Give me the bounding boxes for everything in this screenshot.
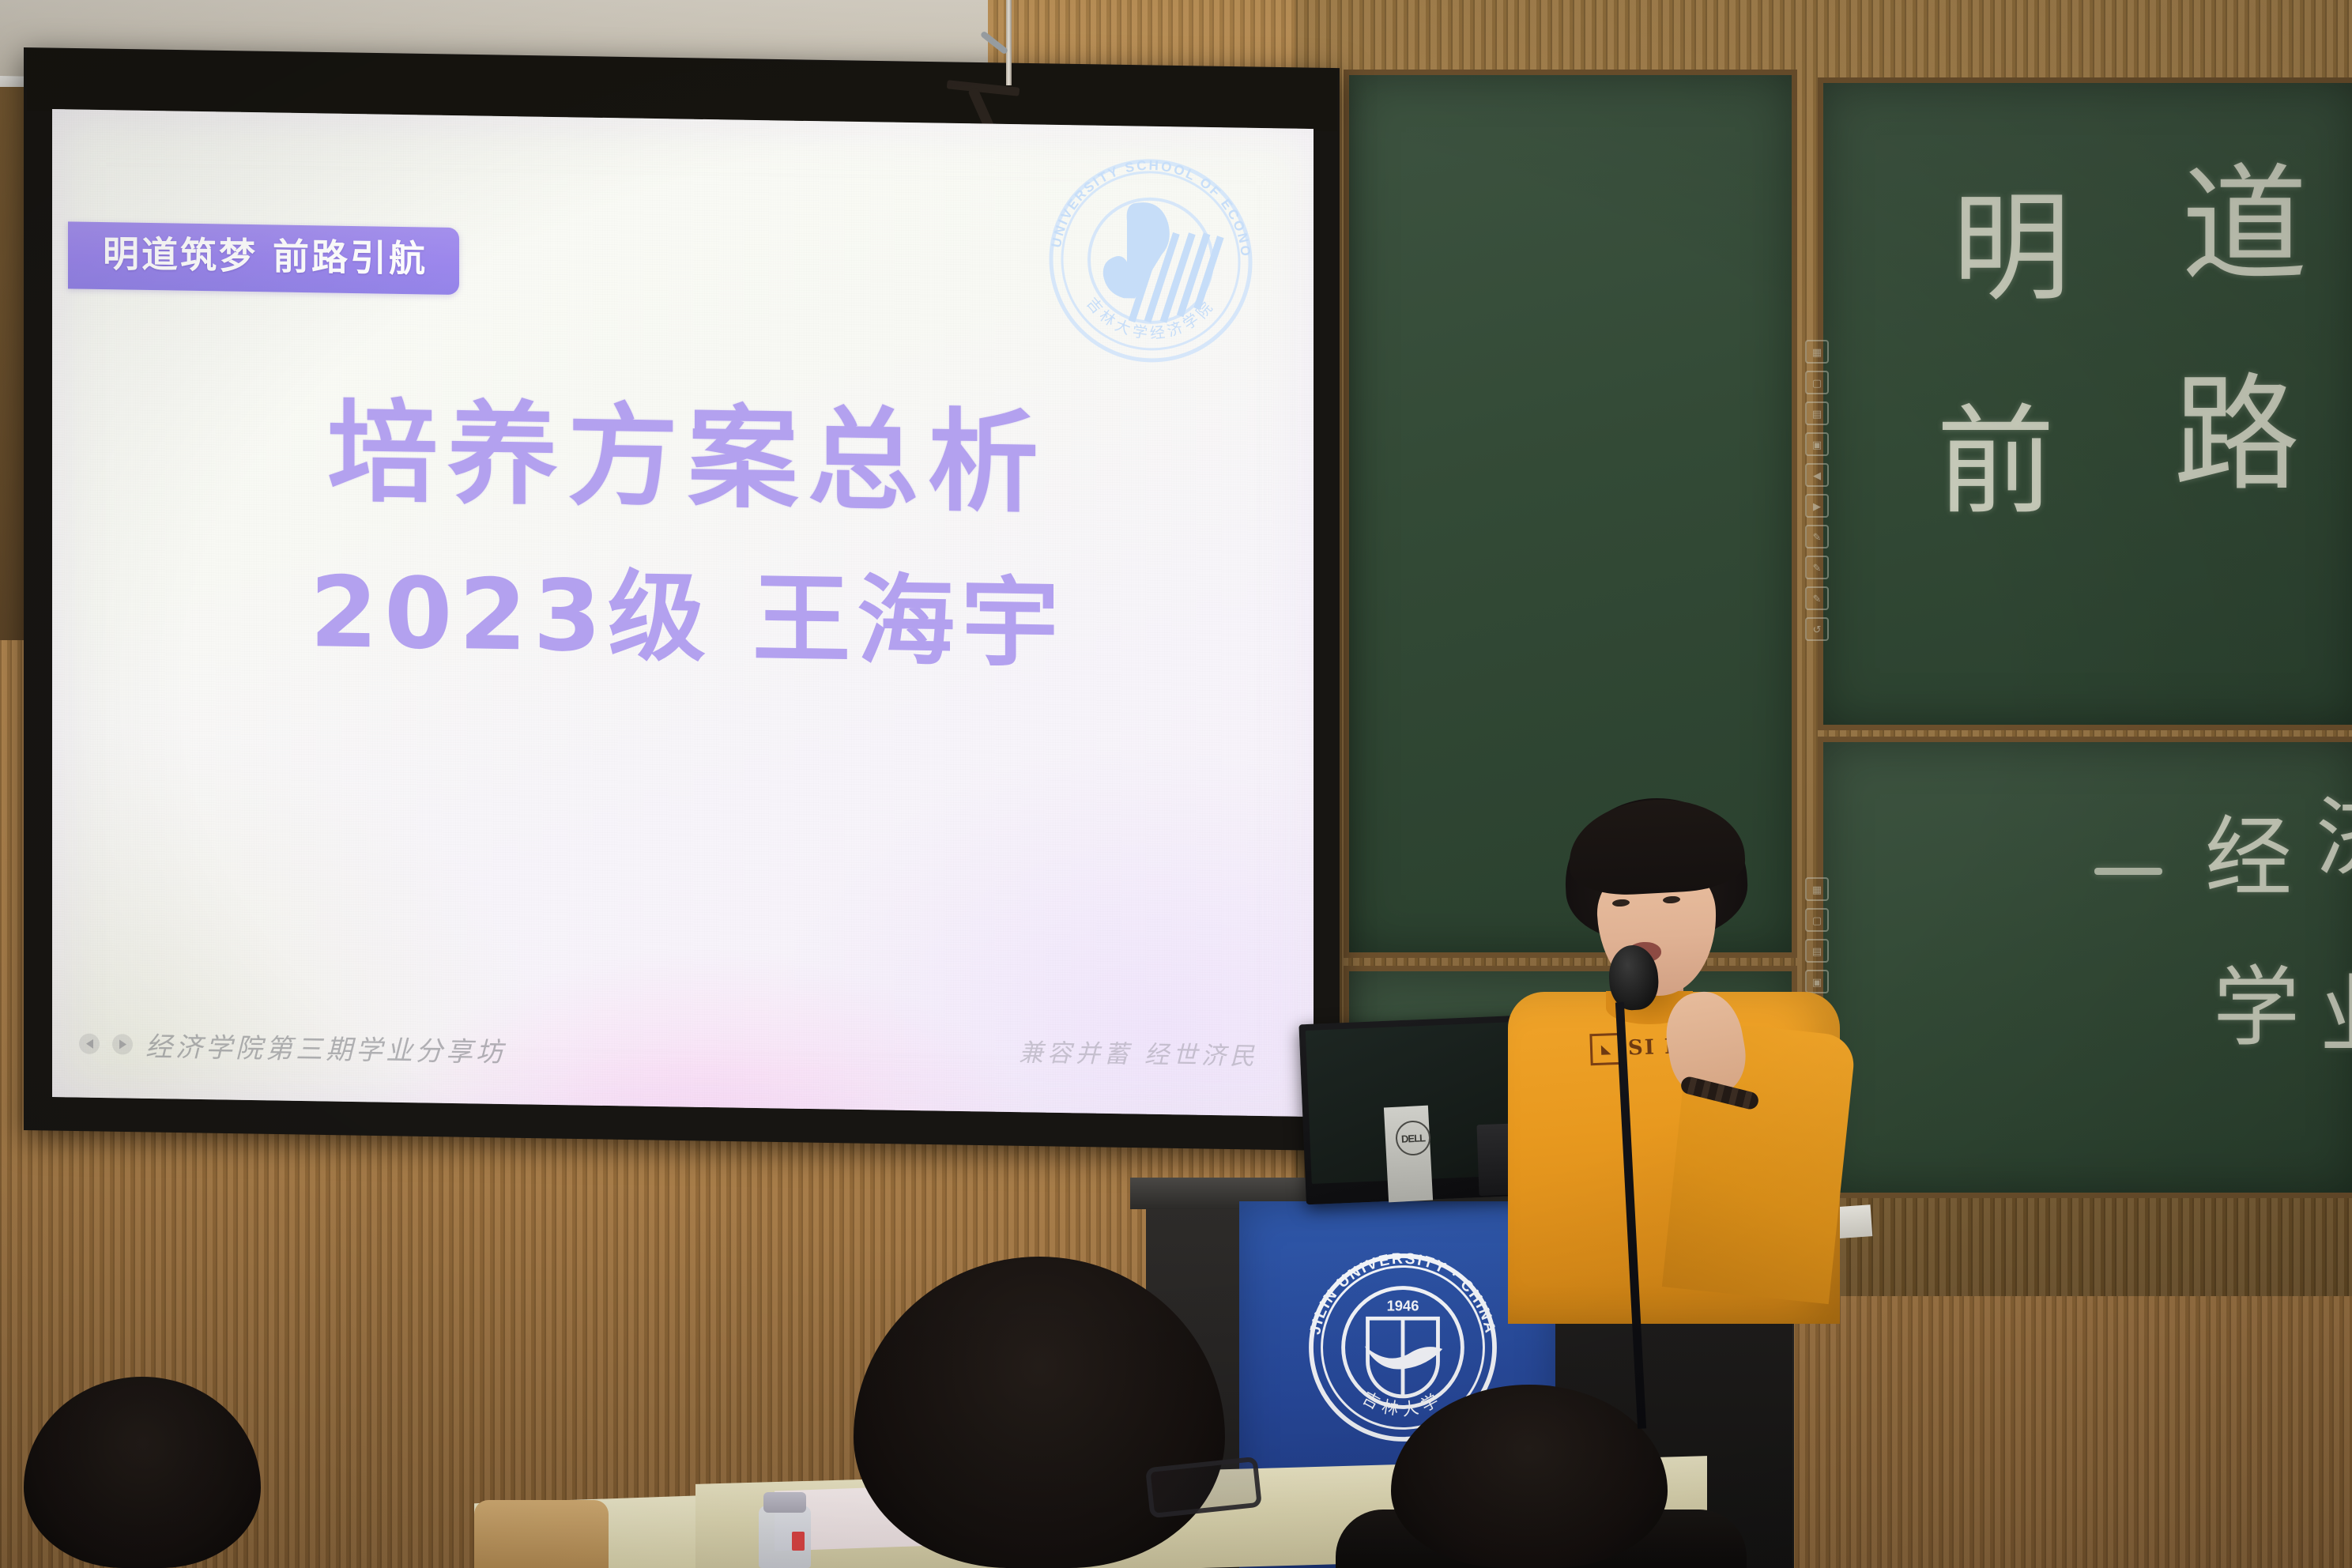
select-icon[interactable]: ▣ bbox=[1805, 970, 1829, 993]
undo-icon[interactable]: ↺ bbox=[1805, 617, 1829, 641]
wooden-chair-back bbox=[474, 1500, 609, 1568]
arrow-left-icon[interactable]: ◀ bbox=[1805, 463, 1829, 487]
pen-icon[interactable]: ✎ bbox=[1805, 586, 1829, 610]
blackboard-panel-right-bottom bbox=[1818, 737, 2352, 1198]
chalk-dash-mark bbox=[2094, 868, 2162, 875]
grid-icon[interactable]: ▦ bbox=[1805, 340, 1829, 364]
bottle-cap bbox=[763, 1492, 806, 1513]
ceiling-rod bbox=[1006, 0, 1012, 85]
slide-title: 培养方案总析 bbox=[52, 394, 1314, 524]
presentation-slide: 明道筑梦 前路引航 JILIN UNIVERSITY SCHOOL OF ECO… bbox=[52, 109, 1314, 1117]
select-icon[interactable]: ▣ bbox=[1805, 432, 1829, 456]
triangle-left-icon[interactable] bbox=[79, 1033, 100, 1053]
eraser-icon[interactable]: ▢ bbox=[1805, 371, 1829, 394]
grid-icon[interactable]: ▦ bbox=[1805, 877, 1829, 901]
slide-footer-left-text: 经济学院第三期学业分享坊 bbox=[145, 1025, 506, 1069]
bottle-label bbox=[792, 1532, 805, 1551]
pen-icon[interactable]: ✎ bbox=[1805, 556, 1829, 579]
slide-footer-left: 经济学院第三期学业分享坊 bbox=[79, 1024, 506, 1069]
slide-banner-text: 明道筑梦 前路引航 bbox=[103, 236, 428, 277]
emblem-year: 1946 bbox=[1387, 1298, 1419, 1314]
school-of-economics-watermark-logo: JILIN UNIVERSITY SCHOOL OF ECONOMICS 吉林大… bbox=[1032, 140, 1269, 381]
slide-footer-right-text: 兼容并蓄 经世济民 bbox=[1019, 1032, 1258, 1072]
blackboard-panel-right-top bbox=[1818, 77, 2352, 730]
eraser-icon[interactable]: ▢ bbox=[1805, 908, 1829, 932]
smartboard-control-strip-upper[interactable]: ▦ ▢ ▤ ▣ ◀ ▶ ✎ ✎ ✎ ↺ bbox=[1805, 340, 1829, 641]
slide-subtitle: 2023级 王海宇 bbox=[52, 560, 1314, 677]
slide-banner: 明道筑梦 前路引航 bbox=[68, 221, 459, 295]
arrow-right-icon[interactable]: ▶ bbox=[1805, 494, 1829, 518]
triangle-right-icon[interactable] bbox=[112, 1034, 133, 1054]
keyboard-icon[interactable]: ▤ bbox=[1805, 939, 1829, 963]
lecture-hall-photo: 明 道 前 路 经 济 学 业 ▦ ▢ ▤ ▣ ◀ ▶ ✎ ✎ ✎ ↺ ▦ ▢ … bbox=[0, 0, 2352, 1568]
pen-icon[interactable]: ✎ bbox=[1805, 525, 1829, 548]
keyboard-icon[interactable]: ▤ bbox=[1805, 401, 1829, 425]
